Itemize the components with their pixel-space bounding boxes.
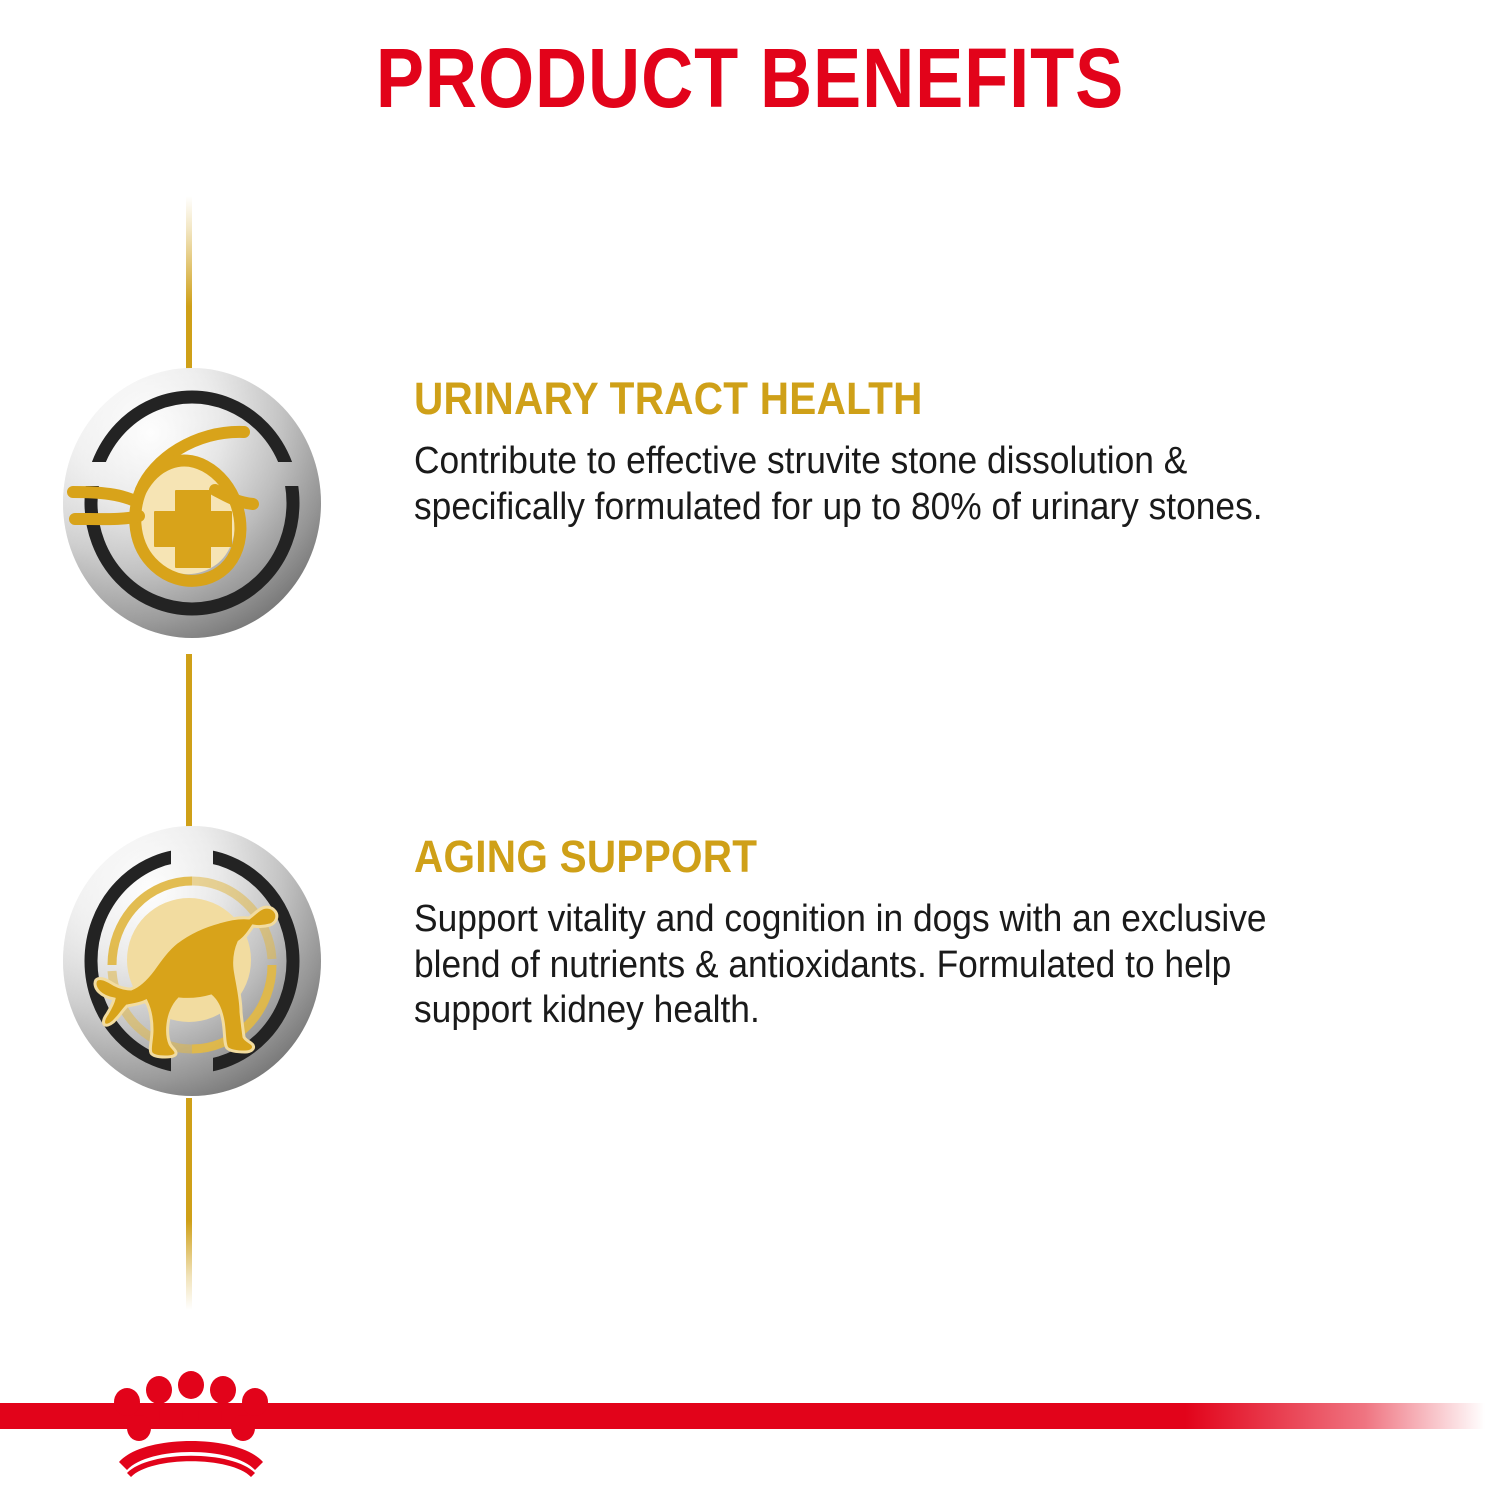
urinary-bladder-plus-icon: [63, 368, 321, 638]
page-title: PRODUCT BENEFITS: [105, 36, 1395, 120]
connector-line-middle: [186, 654, 192, 834]
connector-line-top: [186, 196, 192, 374]
benefit-description: Support vitality and cognition in dogs w…: [414, 897, 1353, 1034]
benefit-description: Contribute to effective struvite stone d…: [414, 439, 1353, 530]
aging-dog-icon: [63, 826, 321, 1096]
benefit-text-block: AGING SUPPORT Support vitality and cogni…: [414, 834, 1424, 1034]
benefit-heading: URINARY TRACT HEALTH: [414, 376, 1323, 421]
benefit-text-block: URINARY TRACT HEALTH Contribute to effec…: [414, 376, 1424, 530]
product-benefits-page: PRODUCT BENEFITS: [0, 0, 1500, 1500]
royal-canin-crown-logo: [109, 1366, 273, 1478]
benefit-heading: AGING SUPPORT: [414, 834, 1323, 879]
connector-line-bottom: [186, 1098, 192, 1310]
